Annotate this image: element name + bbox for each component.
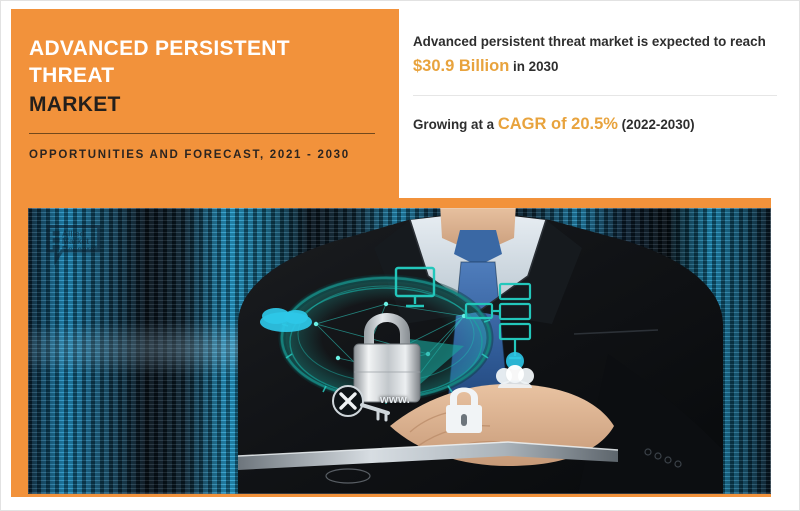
www-label: www.: [380, 394, 410, 406]
page-title-primary: ADVANCED PERSISTENT THREAT: [29, 35, 377, 90]
market-report-infographic-card: ADVANCED PERSISTENT THREAT MARKET OPPORT…: [0, 0, 800, 511]
page-subtitle: OPPORTUNITIES AND FORECAST, 2021 - 2030: [29, 147, 377, 165]
stat-cagr-suffix: (2022-2030): [618, 117, 695, 132]
stats-divider: [413, 95, 777, 96]
small-padlock-icon: [446, 388, 482, 434]
hologram-icon-cluster: [28, 208, 771, 494]
hero-photo: Allied Market Research: [28, 208, 771, 494]
stat-market-size: Advanced persistent threat market is exp…: [413, 31, 785, 79]
stat-cagr-value: CAGR of 20.5%: [498, 115, 618, 133]
stat-market-size-value: $30.9 Billion: [413, 57, 509, 75]
stat-cagr-prefix: Growing at a: [413, 117, 498, 132]
title-divider: [29, 133, 375, 134]
cloud-icon: [260, 308, 312, 332]
document-list-icons: [466, 284, 530, 358]
stats-panel: Advanced persistent threat market is exp…: [413, 31, 785, 138]
page-title-secondary: MARKET: [29, 91, 377, 118]
stat-cagr: Growing at a CAGR of 20.5% (2022-2030): [413, 111, 785, 138]
stat-market-size-suffix: in 2030: [509, 59, 558, 74]
user-group-icon: [496, 352, 534, 388]
monitor-icon: [396, 268, 434, 306]
title-panel: ADVANCED PERSISTENT THREAT MARKET OPPORT…: [11, 9, 399, 198]
stat-market-size-prefix: Advanced persistent threat market is exp…: [413, 34, 766, 49]
